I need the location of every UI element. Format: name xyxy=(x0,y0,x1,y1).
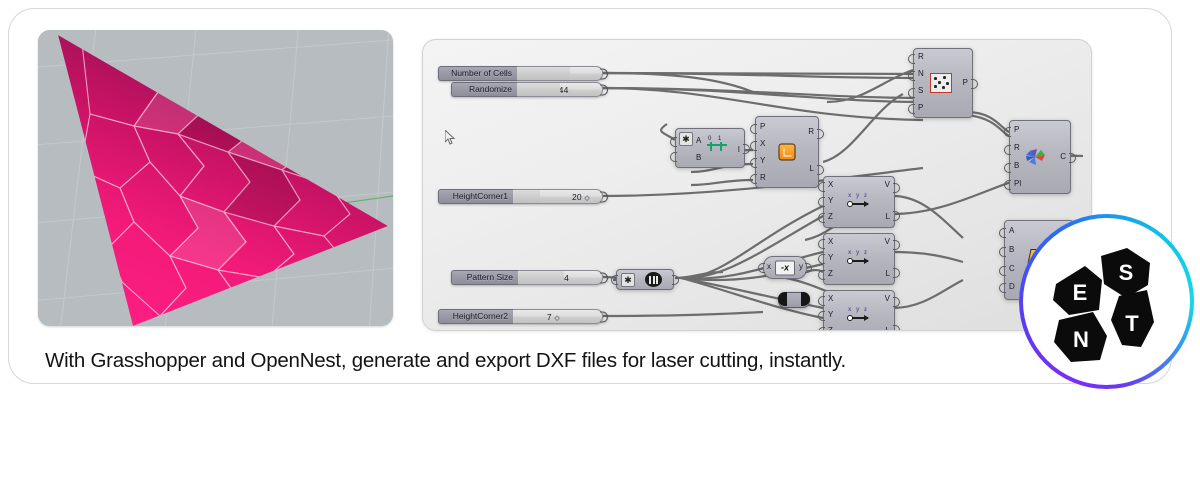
input-port-z[interactable] xyxy=(818,270,825,280)
rhino-3d-viewport[interactable] xyxy=(38,30,393,326)
slider-number-of-cells[interactable]: Number of Cells ◇ 53 xyxy=(438,66,603,81)
populate-2d-icon xyxy=(930,73,952,93)
port-label-x: X xyxy=(828,295,833,303)
slider-label: HeightCorner1 xyxy=(438,189,513,204)
port-label-d: D xyxy=(1009,283,1015,291)
input-port-x[interactable] xyxy=(750,141,757,151)
grasshopper-canvas[interactable]: Number of Cells ◇ 53 Randomize ◇ 44 Heig… xyxy=(422,39,1092,331)
logo-letter-e: E xyxy=(1073,280,1088,305)
construct-point-component-2[interactable]: X Y Z V L xyz xyxy=(823,233,895,285)
input-port-d[interactable] xyxy=(999,283,1006,293)
slider-track[interactable]: 7 ◇ xyxy=(513,309,603,324)
input-port-x[interactable] xyxy=(818,239,825,249)
port-label-s: S xyxy=(918,87,923,95)
port-label-out-r: R xyxy=(808,128,814,136)
input-port[interactable] xyxy=(611,275,618,285)
slider-value: 20 ◇ xyxy=(572,192,590,202)
port-label-p: P xyxy=(1014,126,1019,134)
logo-letter-s: S xyxy=(1119,260,1134,285)
slider-heightcorner2[interactable]: HeightCorner2 7 ◇ xyxy=(438,309,603,324)
port-label-r: R xyxy=(918,53,924,61)
input-port-x[interactable] xyxy=(818,182,825,192)
flatten-star-icon[interactable]: ✱ xyxy=(679,132,693,146)
input-port-a[interactable] xyxy=(999,228,1006,238)
slider-track[interactable]: ◇ 44 xyxy=(517,82,603,97)
xyz-point-icon: xyz xyxy=(847,308,871,324)
input-port-p[interactable] xyxy=(750,124,757,134)
input-port-r[interactable] xyxy=(908,54,915,64)
port-label-r: R xyxy=(1014,144,1020,152)
flatten-star-icon[interactable]: ✱ xyxy=(621,273,635,287)
input-port-z[interactable] xyxy=(818,327,825,331)
input-port-x[interactable] xyxy=(758,263,765,273)
input-port-y[interactable] xyxy=(750,158,757,168)
merge-icon xyxy=(645,272,662,287)
port-label-z: Z xyxy=(828,327,833,331)
port-label-p: P xyxy=(760,123,765,131)
voronoi-component[interactable]: P R B Pl C xyxy=(1009,120,1071,194)
mouse-cursor xyxy=(445,130,457,146)
port-label-out-p: P xyxy=(963,79,968,87)
logo-letter-t: T xyxy=(1125,311,1139,336)
port-label-y: y xyxy=(799,263,803,271)
slider-randomize[interactable]: Randomize ◇ 44 xyxy=(451,82,603,97)
input-port-b[interactable] xyxy=(999,247,1006,257)
input-port-r[interactable] xyxy=(750,174,757,184)
port-label-v: V xyxy=(885,181,890,189)
input-port-y[interactable] xyxy=(818,197,825,207)
logo-letter-n: N xyxy=(1073,327,1089,352)
opennest-logo[interactable]: E S T N xyxy=(1019,214,1194,389)
input-port-r[interactable] xyxy=(1004,145,1011,155)
port-label-l: L xyxy=(886,270,890,278)
input-port-x[interactable] xyxy=(818,296,825,306)
slider-label: Number of Cells xyxy=(438,66,517,81)
port-label-a: A xyxy=(1009,227,1014,235)
caption-text: With Grasshopper and OpenNest, generate … xyxy=(45,349,1095,373)
port-label-a: A xyxy=(696,137,701,145)
port-label-b: B xyxy=(696,154,701,162)
input-port-pl[interactable] xyxy=(1004,180,1011,190)
construct-point-component-3[interactable]: X Y Z V L xyz xyxy=(823,290,895,331)
port-label-out-c: C xyxy=(1060,153,1066,161)
input-port-n[interactable] xyxy=(908,71,915,81)
slider-track[interactable]: ◇ 53 xyxy=(517,66,603,81)
slider-pattern-size[interactable]: Pattern Size ◇ 24 xyxy=(451,270,603,285)
gate-icon: 0 1 xyxy=(707,138,729,152)
port-label-z: Z xyxy=(828,270,833,278)
port-label-y: Y xyxy=(828,254,833,262)
port-label-pl: Pl xyxy=(1014,180,1021,188)
slider-track[interactable]: ◇ 24 xyxy=(518,270,603,285)
multiplication-component[interactable]: ✱ xyxy=(616,269,674,290)
input-port-p[interactable] xyxy=(908,104,915,114)
xyz-point-icon: xyz xyxy=(847,251,871,267)
port-label-b: B xyxy=(1014,162,1019,170)
slider-label: Pattern Size xyxy=(451,270,518,285)
port-label-y: Y xyxy=(760,157,765,165)
input-port-p[interactable] xyxy=(1004,127,1011,137)
boolean-gate-component[interactable]: A B I ✱ 0 1 xyxy=(675,128,745,168)
port-label-x: X xyxy=(828,238,833,246)
input-port-b[interactable] xyxy=(670,152,677,162)
port-label-p: P xyxy=(918,104,923,112)
logo-inner: E S T N xyxy=(1023,218,1190,385)
port-label-i: I xyxy=(738,146,740,154)
input-port-s[interactable] xyxy=(908,88,915,98)
voronoi-icon xyxy=(1024,148,1046,166)
slider-label: HeightCorner2 xyxy=(438,309,513,324)
slider-value: 7 ◇ xyxy=(547,312,560,322)
port-label-l: L xyxy=(886,327,890,331)
construct-point-component-1[interactable]: X Y Z V L xyz xyxy=(823,176,895,228)
port-label-out-l: L xyxy=(810,165,814,173)
slider-heightcorner1[interactable]: HeightCorner1 20 ◇ xyxy=(438,189,603,204)
negate-icon: -x xyxy=(775,260,795,275)
port-label-x: X xyxy=(760,140,765,148)
port-label-c: C xyxy=(1009,265,1015,273)
port-label-x: X xyxy=(828,181,833,189)
input-port-z[interactable] xyxy=(818,213,825,223)
input-port-y[interactable] xyxy=(818,254,825,264)
slider-track[interactable]: 20 ◇ xyxy=(513,189,603,204)
logo-shapes: E S T N xyxy=(1023,218,1190,385)
content-card: Number of Cells ◇ 53 Randomize ◇ 44 Heig… xyxy=(8,8,1172,384)
negative-component[interactable]: x y -x xyxy=(763,256,807,279)
input-port-b[interactable] xyxy=(1004,163,1011,173)
port-label-x: x xyxy=(767,263,771,271)
port-label-z: Z xyxy=(828,213,833,221)
port-label-v: V xyxy=(885,295,890,303)
surface-component[interactable]: P X Y R R L xyxy=(755,116,819,188)
xyz-point-icon: xyz xyxy=(847,194,871,210)
port-label-y: Y xyxy=(828,197,833,205)
surface-icon xyxy=(779,144,796,161)
input-port-c[interactable] xyxy=(999,266,1006,276)
viewport-render xyxy=(38,30,393,326)
port-label-y: Y xyxy=(828,311,833,319)
port-label-v: V xyxy=(885,238,890,246)
wire-relay[interactable] xyxy=(778,292,810,308)
populate-2d-component[interactable]: R N S P P xyxy=(913,48,973,118)
input-port-y[interactable] xyxy=(818,311,825,321)
port-label-r: R xyxy=(760,174,766,182)
port-label-b: B xyxy=(1009,246,1014,254)
port-label-l: L xyxy=(886,213,890,221)
slider-label: Randomize xyxy=(451,82,517,97)
port-label-n: N xyxy=(918,70,924,78)
input-port-a[interactable] xyxy=(670,137,677,147)
